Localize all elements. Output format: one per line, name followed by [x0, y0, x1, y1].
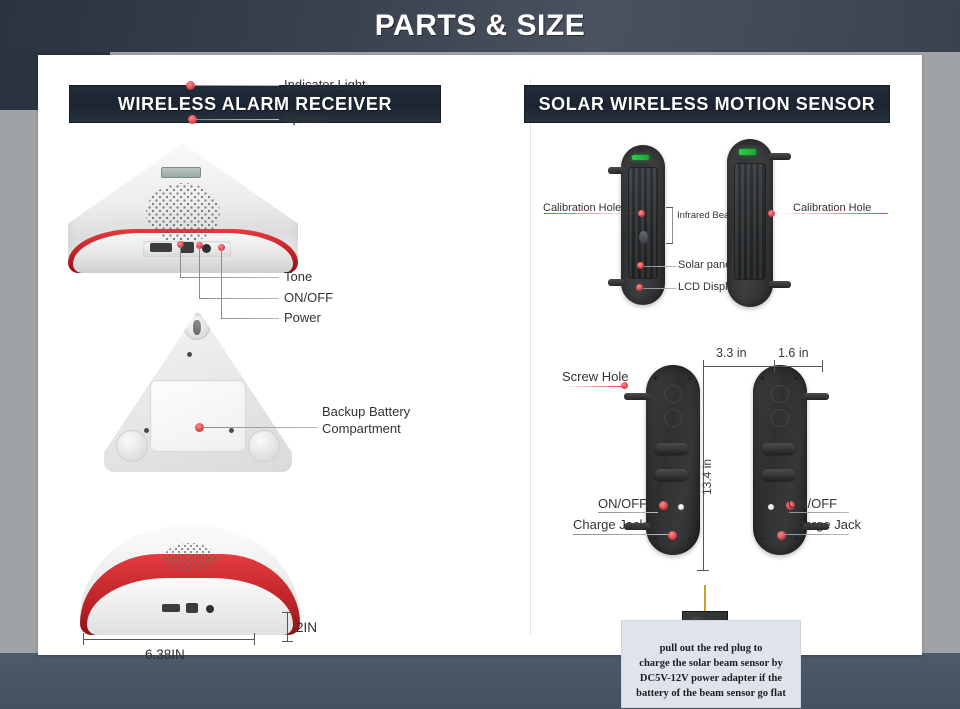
- label-backup-battery-line2: Compartment: [322, 421, 401, 438]
- receiver-foot-left: [116, 430, 148, 462]
- dim-width-tick-left: [83, 633, 84, 645]
- sensor-back-left-indicator-dot: [678, 504, 684, 510]
- note-line-2: charge the solar beam sensor by: [625, 657, 797, 672]
- label-speaker: Speaker: [284, 111, 332, 128]
- panel-header-receiver-label: WIRELESS ALARM RECEIVER: [118, 94, 392, 115]
- sensor-back-right-charge-jack-dot: [777, 531, 786, 540]
- sensor-back-right-screw-1: [761, 377, 764, 380]
- label-dim-height: 2IN: [296, 619, 317, 636]
- receiver-screw-left: [144, 428, 149, 433]
- dim-sensor-width-side-tick-right: [822, 360, 823, 372]
- leader-speaker: [195, 119, 279, 120]
- sensor-back-left-screw-4: [688, 537, 691, 540]
- leader-charge-jack-right: [779, 534, 849, 535]
- sensor-back-right-screw-4: [795, 537, 798, 540]
- sensor-right-solar-panel: [734, 163, 765, 281]
- panel-header-sensor: SOLAR WIRELESS MOTION SENSOR: [524, 85, 890, 123]
- sensor-back-right-bracket-top: [803, 393, 829, 400]
- sensor-back-right-screw-2: [795, 377, 798, 380]
- receiver-screw-top: [187, 352, 192, 357]
- infographic-sheet: WIRELESS ALARM RECEIVER SOLAR WIRELESS M…: [38, 55, 922, 655]
- page-title: PARTS & SIZE: [375, 9, 585, 43]
- leader-onoff-horz: [199, 298, 279, 299]
- label-infrared-beam: Infrared Beam: [677, 210, 737, 222]
- leader-onoff-sensor-right: [789, 512, 849, 513]
- label-dim-sensor-height: 13.4 in: [700, 459, 714, 495]
- panel-header-sensor-label: SOLAR WIRELESS MOTION SENSOR: [539, 94, 876, 115]
- leader-charge-jack-left: [573, 534, 668, 535]
- sensor-back-right-ridge-1: [762, 443, 795, 454]
- receiver-keyhole: [184, 314, 210, 340]
- sensor-front-view-left: [621, 145, 665, 305]
- sensor-back-right-ridge-2: [762, 469, 795, 480]
- leader-power-horz: [221, 318, 279, 319]
- receiver-power-jack: [202, 244, 211, 253]
- receiver-indicator-window: [161, 167, 201, 178]
- label-dim-sensor-width-main: 3.3 in: [716, 345, 747, 361]
- leader-onoff-sensor-left: [598, 512, 658, 513]
- sensor-left-infrared-lens: [639, 231, 648, 244]
- receiver-side-grille: [164, 543, 216, 573]
- receiver-side-view: [80, 525, 300, 635]
- sensor-left-bracket-bottom: [608, 279, 624, 286]
- receiver-side-indicator: [80, 525, 116, 534]
- label-onoff-sensor-right: ON/OFF: [788, 496, 837, 513]
- receiver-screw-right: [229, 428, 234, 433]
- label-backup-battery-line1: Backup Battery: [322, 404, 410, 421]
- sensor-back-left-screw-3: [654, 537, 657, 540]
- leader-lcd-display: [643, 288, 676, 289]
- note-line-4: battery of the beam sensor go flat: [625, 687, 797, 702]
- sensor-back-right-screw-3: [761, 537, 764, 540]
- bottom-bar: [0, 653, 960, 709]
- dim-height-tick-top: [282, 612, 293, 613]
- page-banner: PARTS & SIZE: [0, 0, 960, 52]
- leader-infrared-bracket-top: [666, 207, 673, 208]
- dim-sensor-width-side-line: [775, 366, 823, 367]
- label-solar-panel: Solar panel: [678, 258, 734, 272]
- charge-instruction-note: pull out the red plug to charge the sola…: [621, 620, 801, 708]
- receiver-battery-compartment: [150, 380, 246, 452]
- receiver-front-view: [68, 143, 298, 273]
- sensor-back-right-indicator-dot: [768, 504, 774, 510]
- label-onoff-sensor-left: ON/OFF: [598, 496, 647, 513]
- label-calibration-hole-right: Calibration Hole: [793, 201, 871, 215]
- sensor-back-left-ridge-1: [655, 443, 688, 454]
- leader-tone-vert: [180, 245, 181, 277]
- leader-indicator-light: [193, 85, 279, 86]
- leader-infrared-bracket-vert: [672, 207, 673, 243]
- sensor-back-right-emblem-top: [771, 385, 789, 403]
- label-indicator-light: Indicator Light: [284, 77, 366, 94]
- sensor-back-left-bracket-top: [624, 393, 650, 400]
- sensor-right-status-led: [739, 149, 756, 155]
- sensor-right-bracket-bottom: [769, 281, 791, 288]
- sensor-back-view-left: [646, 365, 700, 555]
- label-screw-hole: Screw Hole: [562, 369, 628, 386]
- receiver-speaker-grille: [146, 183, 220, 243]
- callout-dot-screw-hole: [621, 382, 628, 389]
- sensor-right-bracket-top: [769, 153, 791, 160]
- label-dim-width: 6.38IN: [145, 646, 185, 663]
- sensor-back-left-emblem-top: [664, 385, 682, 403]
- receiver-back-view: [104, 310, 292, 472]
- leader-solar-panel: [644, 266, 676, 267]
- panel-divider: [530, 79, 531, 635]
- note-line-1: pull out the red plug to: [625, 642, 797, 657]
- sensor-back-left-emblem-mid: [664, 409, 682, 427]
- dim-width-line: [83, 639, 255, 640]
- dim-sensor-height-tick-bottom: [697, 570, 709, 571]
- receiver-side-onoff: [186, 603, 198, 613]
- leader-onoff-vert: [199, 245, 200, 298]
- sensor-back-right-emblem-mid: [771, 409, 789, 427]
- label-charge-jack-left: Charge Jack: [573, 517, 646, 534]
- label-dim-sensor-width-side: 1.6 in: [778, 345, 809, 361]
- label-onoff: ON/OFF: [284, 290, 333, 307]
- leader-tone-horz: [180, 277, 279, 278]
- label-power: Power: [284, 310, 321, 327]
- panel-header-receiver: WIRELESS ALARM RECEIVER: [69, 85, 441, 123]
- sensor-back-left-screw-2: [688, 377, 691, 380]
- dim-height-line: [287, 612, 288, 642]
- label-calibration-hole-left: Calibration Hole: [543, 201, 621, 215]
- dim-height-tick-bottom: [282, 641, 293, 642]
- leader-infrared-bracket-bottom: [666, 243, 673, 244]
- note-line-3: DC5V-12V power adapter if the: [625, 672, 797, 687]
- callout-dot-solar-panel: [637, 262, 644, 269]
- dim-width-tick-right: [254, 633, 255, 645]
- leader-power-vert: [221, 247, 222, 318]
- sensor-back-left-ridge-2: [655, 469, 688, 480]
- sensor-back-left-onoff-dot: [659, 501, 668, 510]
- label-charge-jack-right: Charge Jack: [788, 517, 861, 534]
- label-tone: Tone: [284, 269, 312, 286]
- receiver-side-power-jack: [206, 605, 214, 613]
- callout-dot-lcd-display: [636, 284, 643, 291]
- sensor-left-status-led: [632, 155, 649, 160]
- receiver-tone-port: [150, 243, 172, 252]
- leader-screw-hole: [562, 386, 624, 387]
- label-lcd-display: LCD Display: [678, 280, 739, 294]
- receiver-side-tone-port: [162, 604, 180, 612]
- leader-backup-battery: [203, 427, 318, 428]
- dim-sensor-width-main-line: [703, 366, 775, 367]
- receiver-foot-right: [248, 430, 280, 462]
- sensor-back-left-screw-1: [654, 377, 657, 380]
- sensor-left-bracket-top: [608, 167, 624, 174]
- sensor-back-left-charge-jack-dot: [668, 531, 677, 540]
